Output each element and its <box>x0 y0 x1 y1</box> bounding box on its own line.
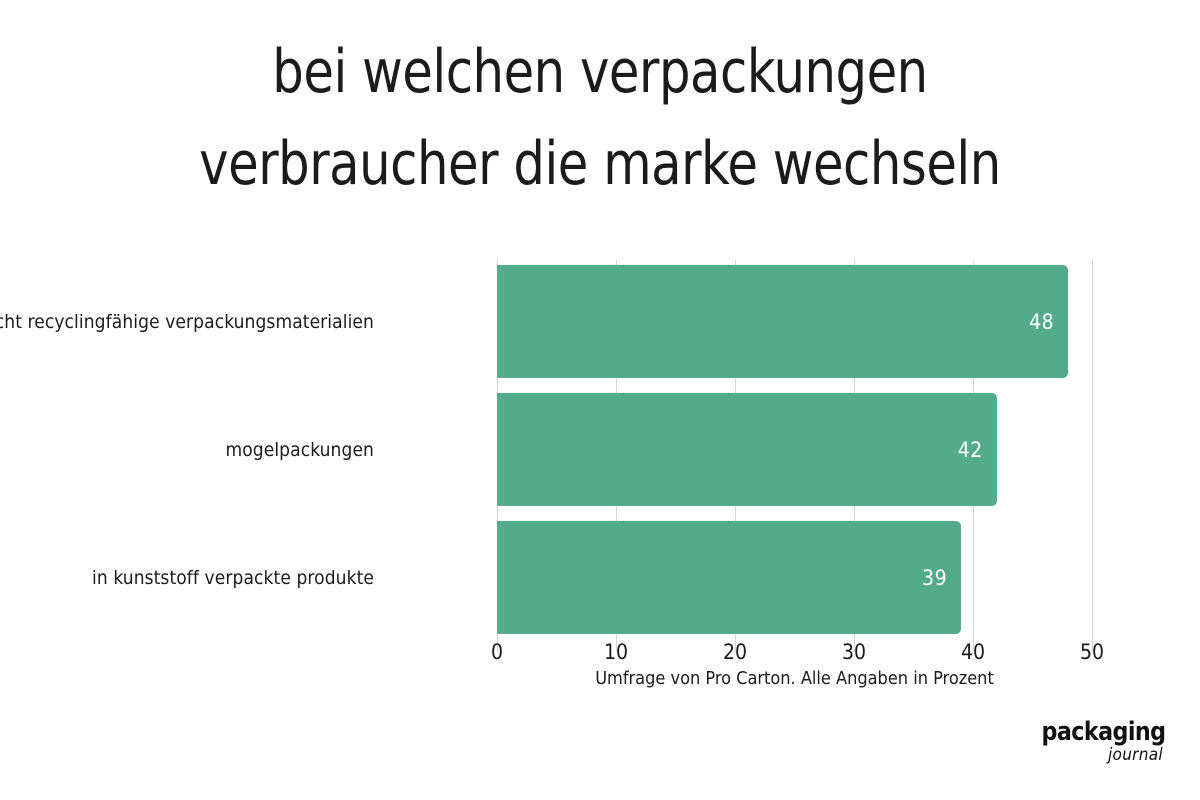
packaging-journal-logo: packaging journal <box>1035 719 1165 764</box>
bar[interactable]: 42 <box>497 393 997 506</box>
chart-page: bei welchen verpackungen verbraucher die… <box>0 0 1200 800</box>
bar-value-label: 39 <box>922 566 947 590</box>
bar-row: 48nicht recyclingfähige verpackungsmater… <box>497 265 1092 378</box>
x-tick-label-20: 20 <box>723 640 747 664</box>
bar[interactable]: 39 <box>497 521 961 634</box>
x-tick-label-50: 50 <box>1080 640 1104 664</box>
bar-row: 39in kunststoff verpackte produkte <box>497 521 1092 634</box>
x-tick-label-10: 10 <box>604 640 628 664</box>
bar[interactable]: 48 <box>497 265 1068 378</box>
x-tick-label-0: 0 <box>491 640 503 664</box>
category-label: nicht recyclingfähige verpackungsmateria… <box>0 311 374 333</box>
bar-chart: 48nicht recyclingfähige verpackungsmater… <box>0 240 1200 660</box>
category-label: mogelpackungen <box>225 439 374 461</box>
x-tick-label-40: 40 <box>961 640 985 664</box>
logo-sub-text: journal <box>1035 747 1165 764</box>
bar-value-label: 48 <box>1029 310 1054 334</box>
gridline-50 <box>1092 260 1093 652</box>
plot-area: 48nicht recyclingfähige verpackungsmater… <box>497 260 1092 652</box>
logo-main-text: packaging <box>1041 719 1165 745</box>
x-axis-caption: Umfrage von Pro Carton. Alle Angaben in … <box>497 668 1092 689</box>
title-line-2: verbraucher die marke wechseln <box>48 118 1152 210</box>
title-line-1: bei welchen verpackungen <box>48 26 1152 118</box>
bar-value-label: 42 <box>958 438 983 462</box>
category-label: in kunststoff verpackte produkte <box>92 567 374 589</box>
bar-row: 42mogelpackungen <box>497 393 1092 506</box>
x-tick-label-30: 30 <box>842 640 866 664</box>
page-title: bei welchen verpackungen verbraucher die… <box>0 26 1200 210</box>
